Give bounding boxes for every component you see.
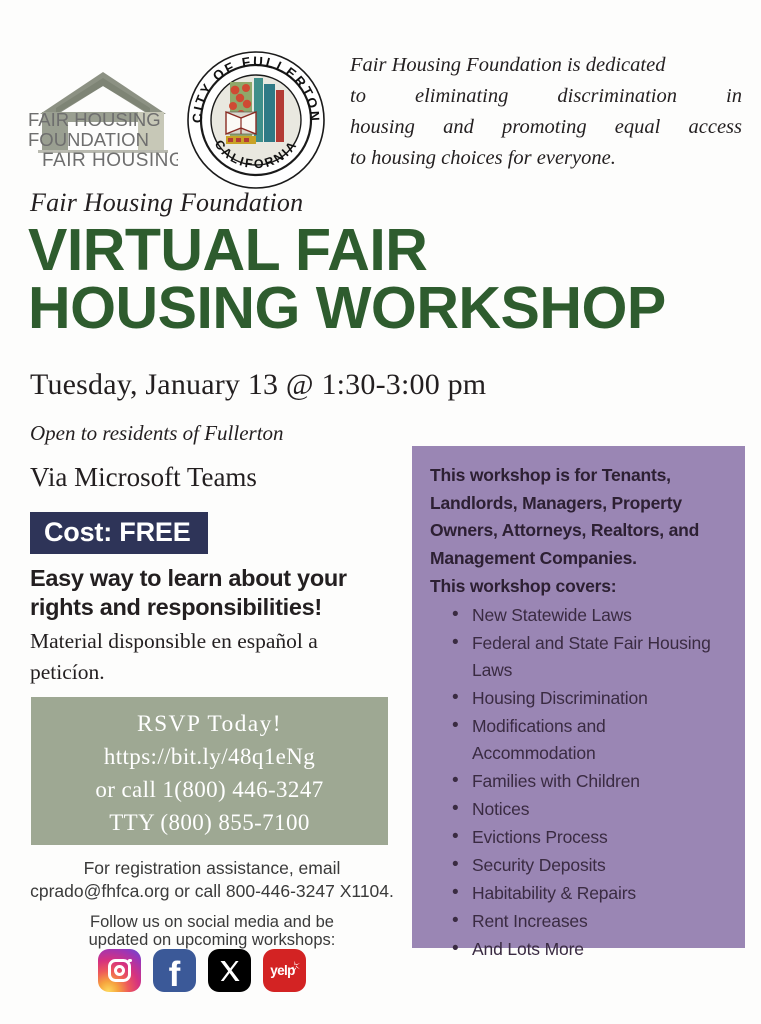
list-item: Habitability & Repairs: [452, 880, 731, 907]
event-date-time: Tuesday, January 13 @ 1:30-3:00 pm: [30, 368, 486, 402]
mission-tagline: Fair Housing Foundation is dedicated to …: [350, 50, 742, 175]
fhf-logo-label-line2: FOUNDATION: [28, 130, 178, 150]
list-item: Evictions Process: [452, 824, 731, 851]
yelp-icon[interactable]: yelp: [263, 949, 306, 992]
benefit-statement: Easy way to learn about your rights and …: [30, 564, 370, 621]
spanish-note-line-2: peticíon.: [30, 657, 380, 688]
follow-line-1: Follow us on social media and be: [14, 913, 410, 931]
rsvp-heading: RSVP Today!: [31, 708, 388, 741]
rsvp-link[interactable]: https://bit.ly/48q1eNg: [31, 741, 388, 774]
spanish-material-note: Material disponsible en español a peticí…: [30, 626, 380, 687]
flyer-header: FAIR HOUSING FOUNDATION FAIR HOUSING FOU…: [0, 22, 761, 182]
follow-line-2: updated on upcoming workshops:: [14, 931, 410, 949]
fhf-logo-label-line1: FAIR HOUSING: [28, 110, 178, 130]
fair-housing-foundation-logo: FAIR HOUSING FOUNDATION FAIR HOUSING FOU…: [28, 50, 178, 170]
instagram-icon[interactable]: [98, 949, 141, 992]
registration-assistance: For registration assistance, email cprad…: [14, 857, 410, 904]
page-title: Virtual Fair Housing Workshop: [28, 222, 708, 338]
benefit-line-2: rights and responsibilities!: [30, 593, 370, 622]
list-item: And Lots More: [452, 936, 731, 963]
list-item: Federal and State Fair Housing Laws: [452, 630, 731, 683]
panel-heading-line-3: Owners, Attorneys, Realtors, and: [430, 517, 731, 545]
flyer-page: FAIR HOUSING FOUNDATION FAIR HOUSING FOU…: [0, 0, 761, 1024]
facebook-icon[interactable]: f: [153, 949, 196, 992]
organization-kicker: Fair Housing Foundation: [30, 188, 303, 218]
x-twitter-icon[interactable]: [208, 949, 251, 992]
list-item: Security Deposits: [452, 852, 731, 879]
list-item: Notices: [452, 796, 731, 823]
tagline-line-3: housing and promoting equal access: [350, 112, 742, 143]
x-glyph: [218, 959, 242, 983]
rsvp-box: RSVP Today! https://bit.ly/48q1eNg or ca…: [31, 697, 388, 845]
tagline-line-1: Fair Housing Foundation is dedicated: [350, 50, 742, 81]
eligibility-note: Open to residents of Fullerton: [30, 421, 284, 446]
audience-and-topics-panel: This workshop is for Tenants, Landlords,…: [412, 446, 745, 948]
tagline-line-4: to housing choices for everyone.: [350, 143, 742, 174]
instagram-dot: [128, 959, 131, 962]
city-of-fullerton-seal: CITY OF FULLERTON CALIFORNIA: [186, 50, 326, 190]
panel-subheading: This workshop covers:: [430, 573, 731, 601]
instagram-lens: [114, 965, 125, 976]
registration-line-1: For registration assistance, email: [14, 857, 410, 880]
topics-list: New Statewide Laws Federal and State Fai…: [452, 602, 731, 963]
panel-heading: This workshop is for Tenants, Landlords,…: [430, 462, 731, 573]
registration-line-2[interactable]: cprado@fhfca.org or call 800-446-3247 X1…: [14, 880, 410, 903]
yelp-burst: [288, 960, 301, 973]
panel-heading-line-2: Landlords, Managers, Property: [430, 490, 731, 518]
spanish-note-line-1: Material disponsible en español a: [30, 626, 380, 657]
platform-note: Via Microsoft Teams: [30, 462, 257, 493]
logo-text-line1: FAIR HOUSING: [42, 150, 178, 170]
social-media-links: f yelp: [98, 949, 306, 992]
city-seal-icon: CITY OF FULLERTON CALIFORNIA: [186, 50, 326, 190]
list-item: Housing Discrimination: [452, 685, 731, 712]
tagline-line-2: to eliminating discrimination in: [350, 81, 742, 112]
benefit-line-1: Easy way to learn about your: [30, 564, 370, 593]
rsvp-phone[interactable]: or call 1(800) 446-3247: [31, 774, 388, 807]
rsvp-tty[interactable]: TTY (800) 855-7100: [31, 807, 388, 840]
follow-us-note: Follow us on social media and be updated…: [14, 913, 410, 949]
list-item: Families with Children: [452, 768, 731, 795]
list-item: Rent Increases: [452, 908, 731, 935]
cost-badge: Cost: FREE: [30, 512, 208, 554]
panel-heading-line-1: This workshop is for Tenants,: [430, 462, 731, 490]
panel-heading-line-4: Management Companies.: [430, 545, 731, 573]
facebook-glyph: f: [169, 957, 181, 992]
list-item: Modifications and Accommodation: [452, 713, 731, 766]
list-item: New Statewide Laws: [452, 602, 731, 629]
